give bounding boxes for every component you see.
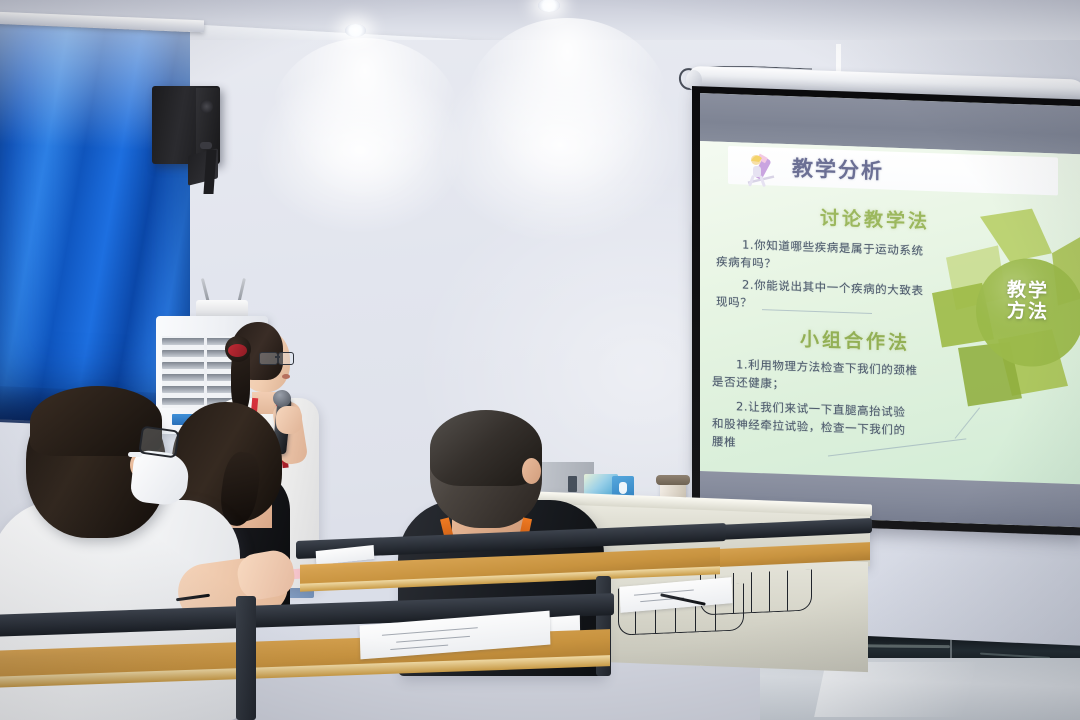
presenter-glasses-left-lens <box>259 352 278 365</box>
presenter-red-scrunchie <box>228 344 247 357</box>
slide-heading-groupwork: 小组合作法 <box>800 324 910 355</box>
coffee-cup-lid <box>656 475 690 485</box>
slide-text-line: 现吗？ <box>716 294 752 311</box>
attendee-front-left-glasses <box>138 425 180 458</box>
presenter-right-hand <box>276 406 302 434</box>
ceiling-downlight-1 <box>345 24 366 37</box>
face-mask-strap <box>128 452 142 457</box>
classroom-presentation-photo: 教学 方法 教学分析 讨论教学法 1.你知道哪些疾病是属于运动系统 疾病有吗？ … <box>0 0 1080 720</box>
slide-text-line: 疾病有吗？ <box>716 254 777 272</box>
slide-text-line: 腰椎 <box>712 433 736 450</box>
speaker-driver-icon <box>200 100 213 113</box>
attendee-right-ear <box>522 458 541 484</box>
slide-title: 教学分析 <box>792 152 884 185</box>
presenter-glasses-bridge <box>275 356 280 358</box>
person-with-pencil-icon <box>740 148 786 190</box>
slide-text-line: 是否还健康； <box>712 373 785 392</box>
air-conditioner-divider <box>204 336 207 408</box>
projector-screen: 教学 方法 教学分析 讨论教学法 1.你知道哪些疾病是属于运动系统 疾病有吗？ … <box>700 93 1080 527</box>
slide-method-badge: 教学 方法 <box>980 279 1076 325</box>
desk-support-post <box>236 596 256 720</box>
badge-line-2: 方法 <box>980 300 1076 325</box>
presenter-mouth <box>282 374 290 379</box>
slide-heading-discussion: 讨论教学法 <box>820 203 930 234</box>
presenter-glasses-right-lens <box>278 352 294 365</box>
cabinet-control-panel[interactable] <box>568 476 577 492</box>
speaker-port <box>200 142 212 149</box>
